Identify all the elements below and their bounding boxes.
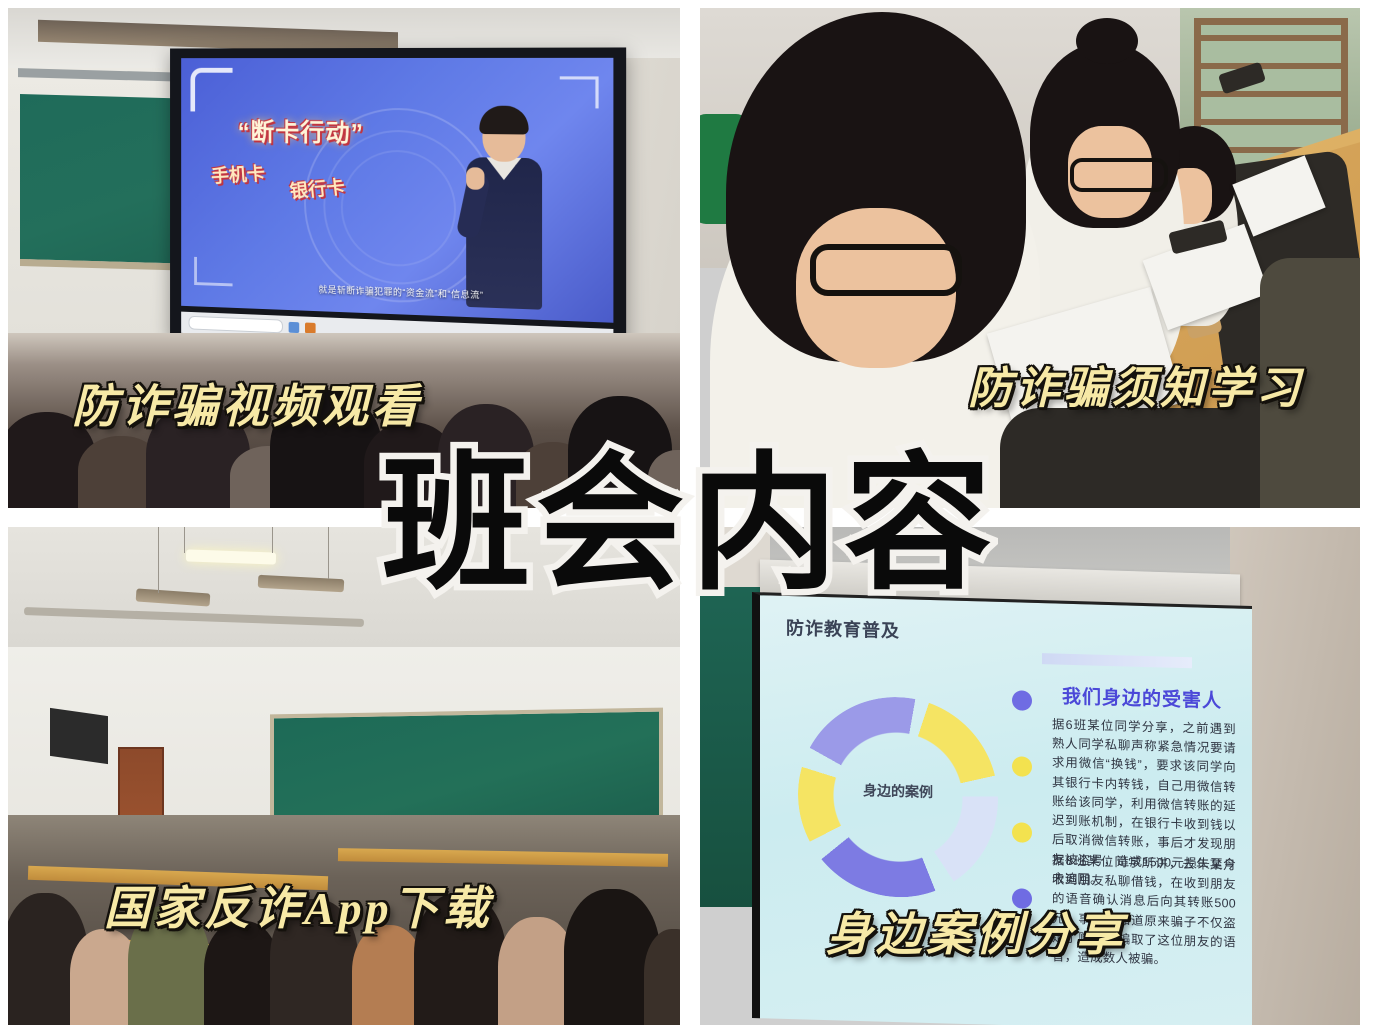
caption-top-right: 防诈骗须知学习: [968, 352, 1304, 416]
bullet-dot-icon: [1012, 822, 1032, 843]
glasses-icon: [810, 244, 962, 296]
page-title: 班会内容: [0, 452, 1380, 600]
caption-bottom-left: 国家反诈App下载: [104, 872, 493, 938]
police-officer-figure: [460, 111, 548, 306]
corner-bracket-icon: [560, 76, 599, 108]
panel-leaflet-study[interactable]: [700, 8, 1360, 508]
search-input[interactable]: [189, 316, 283, 334]
slide-main-title: 我们身边的受害人: [1056, 682, 1228, 714]
bullet-dot-icon: [1012, 690, 1032, 711]
air-vent: [50, 708, 108, 764]
app-icon[interactable]: [289, 321, 300, 332]
projection-screen-frame: “断卡行动” 手机卡 银行卡 就是斩断诈骗犯罪的“资金流”和“信息流”: [170, 47, 626, 358]
caption-bottom-right: 身边案例分享: [826, 898, 1126, 964]
projection-screen: “断卡行动” 手机卡 银行卡 就是斩断诈骗犯罪的“资金流”和“信息流”: [181, 58, 613, 323]
video-tag-bank-card: 银行卡: [288, 172, 346, 203]
app-icon[interactable]: [305, 322, 316, 333]
caption-top-left: 防诈骗视频观看: [72, 370, 422, 436]
desk-bench: [338, 848, 668, 867]
bullet-dot-icon: [1012, 756, 1032, 777]
corner-bracket-icon: [190, 68, 232, 112]
hair-bun: [1076, 18, 1138, 64]
photo-collage: “断卡行动” 手机卡 银行卡 就是斩断诈骗犯罪的“资金流”和“信息流”: [0, 0, 1380, 1035]
video-title: “断卡行动”: [205, 113, 398, 151]
slide-header: 防诈教育普及: [786, 614, 900, 643]
slide-decor-bar: [1042, 653, 1192, 668]
glasses-icon: [1070, 158, 1168, 192]
video-tag-phone-card: 手机卡: [210, 159, 265, 188]
